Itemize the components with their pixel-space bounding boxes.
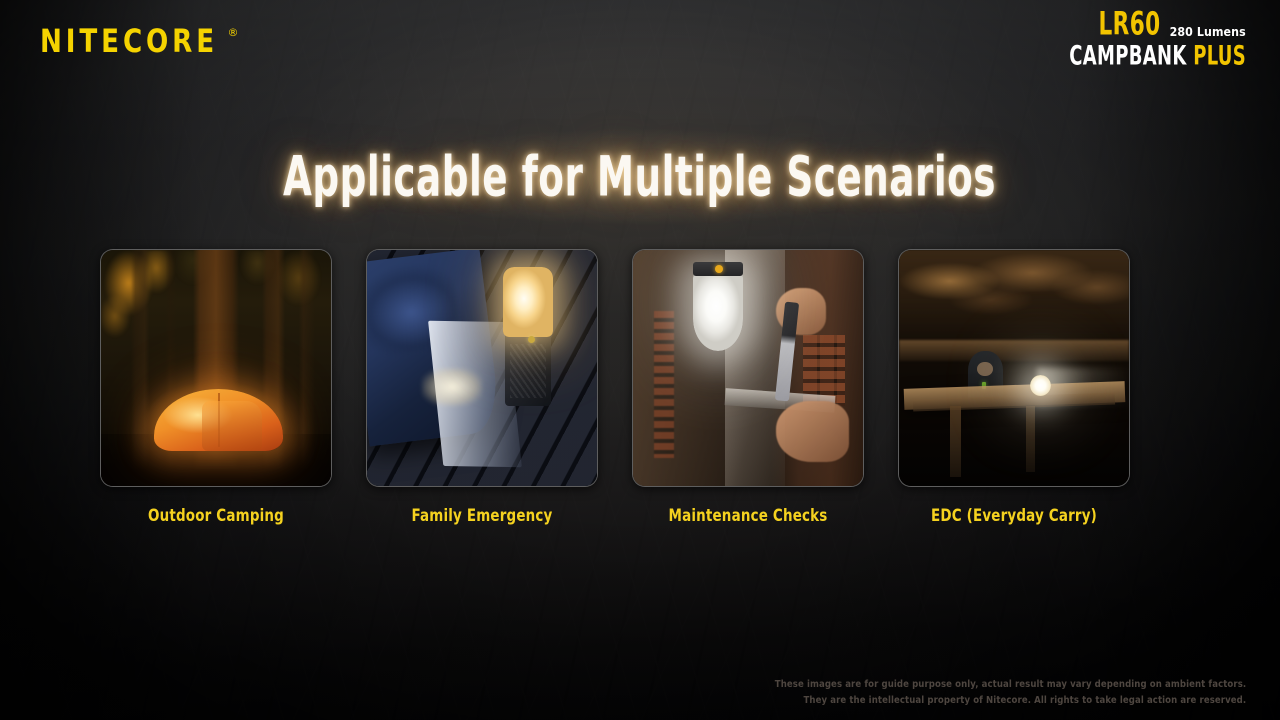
scenario-thumbnail-family-emergency[interactable] [366,249,598,487]
brick-wall-left [654,311,675,457]
tent-flap [202,401,262,451]
table-leg-left [950,406,962,477]
magazine-light-spot [422,368,482,406]
disclaimer: These images are for guide purpose only,… [775,677,1246,708]
scenario-thumbnail-outdoor-camping[interactable] [100,249,332,487]
lantern-light [1030,375,1051,396]
scenario-caption: Outdoor Camping [114,506,318,526]
lantern-globe [503,267,554,338]
product-series-name: CAMPBANK [1069,39,1186,70]
scenario-thumbnail-maintenance-checks[interactable] [632,249,864,487]
table-leg-right [1026,406,1035,472]
lantern-cap [693,262,744,276]
scenario-card-maintenance-checks[interactable]: Maintenance Checks [632,249,864,526]
lantern-globe [693,271,744,351]
scenario-card-outdoor-camping[interactable]: Outdoor Camping [100,249,332,526]
disclaimer-line-2: They are the intellectual property of Ni… [775,693,1246,709]
scenario-thumbnail-edc[interactable] [898,249,1130,487]
page-title: Applicable for Multiple Scenarios [283,145,996,209]
headline-container: Applicable for Multiple Scenarios [0,148,1280,206]
product-badge: LR60 280 Lumens CAMPBANK PLUS [1025,12,1246,67]
nitecore-logo: NITECORE ® [40,26,239,53]
product-lumens: 280 Lumens [1170,26,1246,38]
scenario-card-edc[interactable]: EDC (Everyday Carry) [898,249,1130,526]
photo-maintenance-checks [633,250,863,486]
disclaimer-line-1: These images are for guide purpose only,… [775,677,1246,693]
product-model: LR60 [1098,10,1160,39]
scenario-caption: EDC (Everyday Carry) [912,506,1116,526]
cave-ceiling [899,250,1129,354]
scenario-gallery: Outdoor Camping Family Emergency [100,249,1130,526]
cave-ledge [899,340,1129,361]
photo-edc [899,250,1129,486]
brand-wordmark: NITECORE [40,26,218,58]
photo-outdoor-camping [101,250,331,486]
product-series-row: CAMPBANK PLUS [1069,42,1246,69]
scenario-caption: Family Emergency [380,506,584,526]
scenario-card-family-emergency[interactable]: Family Emergency [366,249,598,526]
registered-trademark-icon: ® [228,27,239,38]
photo-family-emergency [367,250,597,486]
lantern-button [528,336,535,343]
scenario-caption: Maintenance Checks [646,506,850,526]
product-model-row: LR60 280 Lumens [1025,12,1246,40]
hand-lower [776,401,850,462]
product-series-suffix: PLUS [1193,39,1246,70]
